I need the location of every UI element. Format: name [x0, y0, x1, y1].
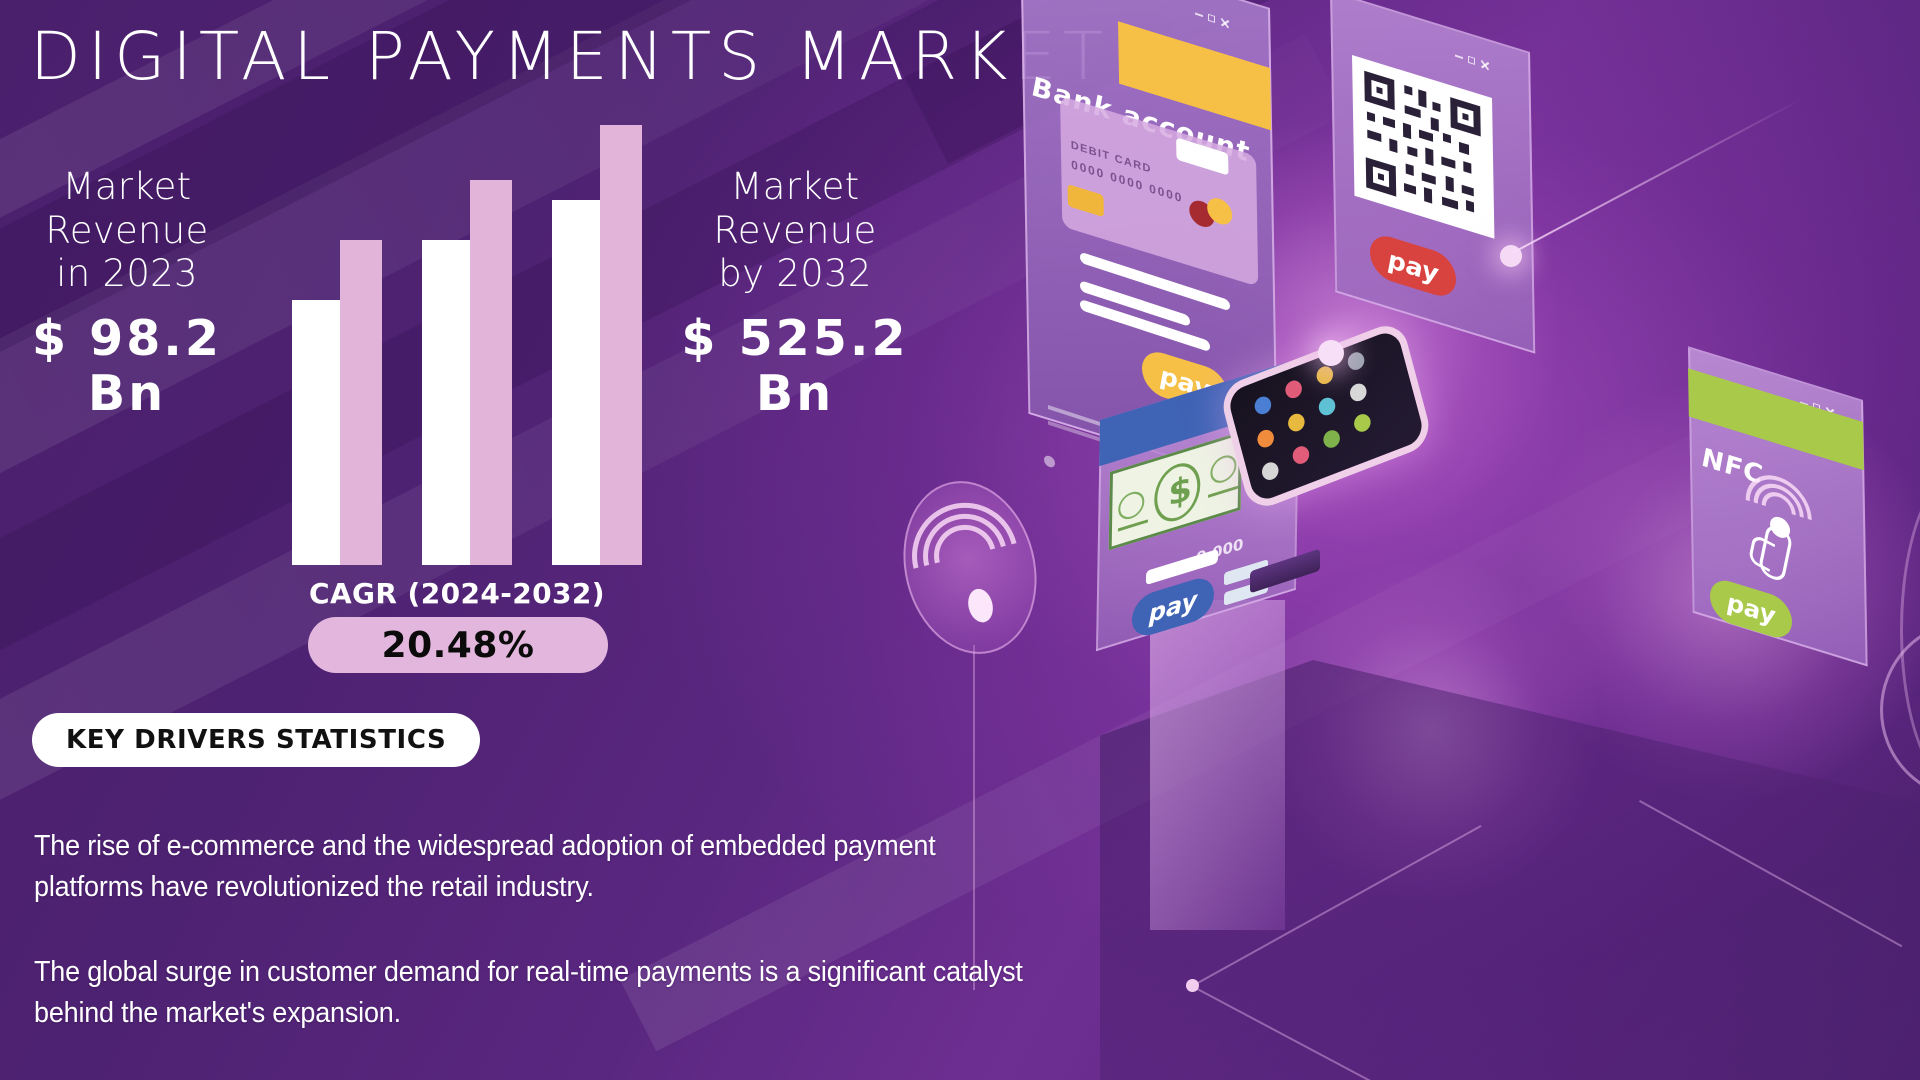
app-icon[interactable]: [1322, 428, 1342, 451]
stat-label-line-1: Market: [18, 165, 236, 209]
bank-footer-dot: [1044, 454, 1055, 469]
stat-value-line-1: $ 98.2: [18, 312, 236, 367]
qr-pay-panel[interactable]: pay: [1330, 52, 1530, 352]
app-icon[interactable]: [1348, 381, 1368, 404]
key-driver-item: The global surge in customer demand for …: [34, 952, 1048, 1034]
minimize-icon[interactable]: [1455, 54, 1463, 59]
stat-label-line-3: by 2032: [660, 252, 930, 296]
cagr-value-pill: 20.48%: [308, 617, 608, 673]
stat-market-revenue-2023: Market Revenue in 2023 $ 98.2 Bn: [18, 165, 236, 422]
stat-value-line-1: $ 525.2: [660, 312, 930, 367]
app-icon[interactable]: [1256, 427, 1276, 450]
chart-bar: [292, 300, 340, 565]
stat-market-revenue-2032: Market Revenue by 2032 $ 525.2 Bn: [660, 165, 930, 422]
card-chip: [1068, 184, 1104, 217]
key-driver-item: The rise of e-commerce and the widesprea…: [34, 826, 1048, 908]
app-icon[interactable]: [1260, 460, 1280, 483]
infographic-stage: DIGITAL PAYMENTS MARKET Market Revenue i…: [0, 0, 1920, 1080]
stat-label-line-3: in 2023: [18, 252, 236, 296]
app-icon[interactable]: [1253, 394, 1273, 417]
stat-value: $ 98.2 Bn: [18, 312, 236, 422]
maximize-icon[interactable]: [1468, 56, 1475, 65]
minimize-icon[interactable]: [1195, 12, 1203, 17]
stat-value: $ 525.2 Bn: [660, 312, 930, 422]
app-icon[interactable]: [1286, 411, 1306, 434]
cagr-label: CAGR (2024-2032): [278, 577, 636, 610]
app-icon[interactable]: [1317, 395, 1337, 418]
app-icon[interactable]: [1346, 350, 1366, 373]
chart-bar: [422, 240, 470, 565]
app-icon[interactable]: [1315, 364, 1335, 387]
stat-value-line-2: Bn: [660, 367, 930, 422]
stat-label: Market Revenue in 2023: [18, 165, 236, 296]
maximize-icon[interactable]: [1208, 14, 1215, 23]
chart-bar: [552, 200, 600, 565]
stat-label-line-2: Revenue: [18, 209, 236, 253]
key-drivers-badge: KEY DRIVERS STATISTICS: [32, 713, 480, 767]
stat-value-line-2: Bn: [18, 367, 236, 422]
antenna-connector: [973, 645, 975, 990]
app-icon[interactable]: [1352, 412, 1372, 435]
floor-node: [1186, 979, 1199, 992]
app-icon[interactable]: [1283, 378, 1303, 401]
page-title: DIGITAL PAYMENTS MARKET: [30, 18, 1110, 95]
bar-chart: [278, 120, 636, 565]
stat-label-line-2: Revenue: [660, 209, 930, 253]
phone-glow-node: [1318, 340, 1344, 366]
chart-bar: [470, 180, 512, 565]
app-icon[interactable]: [1291, 444, 1311, 467]
chart-bar: [600, 125, 642, 565]
stat-label: Market Revenue by 2032: [660, 165, 930, 296]
stat-label-line-1: Market: [660, 165, 930, 209]
chart-bar: [340, 240, 382, 565]
nfc-panel[interactable]: NFC pay: [1688, 400, 1863, 665]
